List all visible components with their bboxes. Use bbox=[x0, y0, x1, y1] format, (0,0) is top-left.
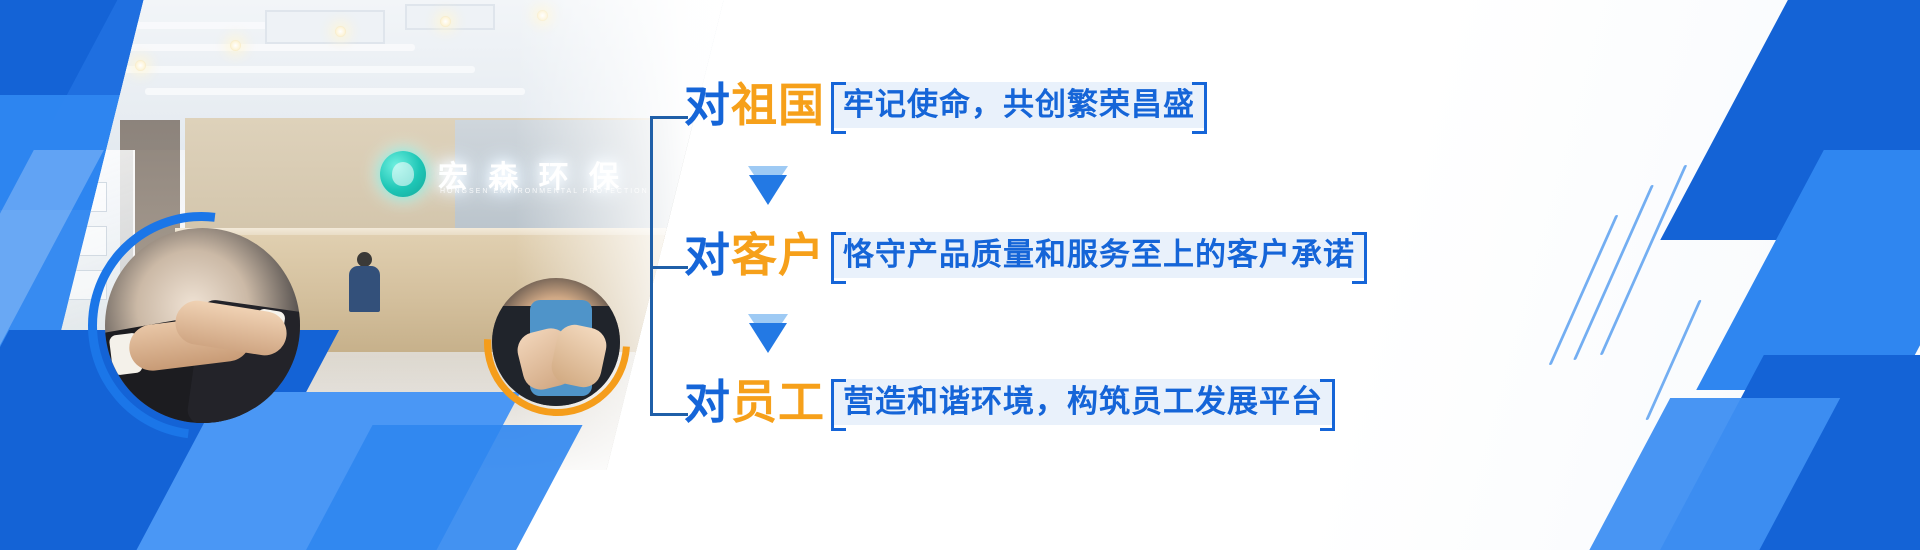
slogan-label-3: 对 员工 bbox=[684, 379, 825, 425]
connector-stub-3 bbox=[650, 413, 688, 416]
slogan-group: 对 祖国 牢记使命，共创繁荣昌盛 对 客户 恪守产品质量和服务至上的客户承诺 对… bbox=[650, 60, 1410, 490]
globe-leaf-icon bbox=[380, 151, 426, 197]
company-culture-banner: 宏 森 环 保 HONGSEN ENVIRONMENTAL PROTECTION bbox=[0, 0, 1920, 550]
deco-right-line-1 bbox=[1600, 165, 1688, 355]
slogan-label-prefix-3: 对 bbox=[684, 379, 731, 425]
slogan-label-key-3: 员工 bbox=[731, 379, 825, 425]
slogan-label-key-1: 祖国 bbox=[731, 82, 825, 128]
slogan-label-prefix-1: 对 bbox=[684, 82, 731, 128]
slogan-phrase-1: 牢记使命，共创繁荣昌盛 bbox=[831, 82, 1207, 128]
slogan-row-1: 对 祖国 牢记使命，共创繁荣昌盛 bbox=[684, 82, 1207, 128]
receptionist bbox=[347, 252, 381, 310]
slogan-row-3: 对 员工 营造和谐环境，构筑员工发展平台 bbox=[684, 379, 1335, 425]
deco-right-line-2 bbox=[1573, 185, 1654, 360]
applause-photo bbox=[492, 278, 620, 406]
handshake-photo bbox=[105, 228, 300, 423]
slogan-label-1: 对 祖国 bbox=[684, 82, 825, 128]
slogan-label-key-2: 客户 bbox=[731, 232, 825, 278]
connector-stub-1 bbox=[650, 116, 688, 119]
slogan-phrase-3: 营造和谐环境，构筑员工发展平台 bbox=[831, 379, 1335, 425]
slogan-label-2: 对 客户 bbox=[684, 232, 825, 278]
connector-stub-2 bbox=[650, 266, 688, 269]
slogan-label-prefix-2: 对 bbox=[684, 232, 731, 278]
slogan-row-2: 对 客户 恪守产品质量和服务至上的客户承诺 bbox=[684, 232, 1367, 278]
slogan-phrase-2: 恪守产品质量和服务至上的客户承诺 bbox=[831, 232, 1367, 278]
